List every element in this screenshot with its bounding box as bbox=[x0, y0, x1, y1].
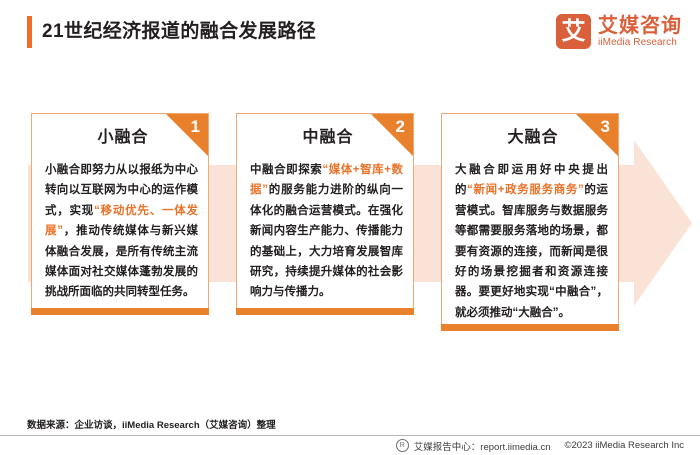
logo-name-cn: 艾媒咨询 bbox=[598, 15, 682, 37]
body-text-run: 的服务能力进阶的纵向一体化的融合运营模式。在强化新闻内容生产能力、传播能力的基础… bbox=[250, 184, 403, 298]
footer-copyright: ©2023 iiMedia Research Inc bbox=[565, 440, 684, 451]
stage-card-1: 1 小融合 小融合即努力从以报纸为中心转向以互联网为中心的运作模式，实现“移动优… bbox=[31, 113, 209, 309]
card-title: 大融合 bbox=[442, 127, 620, 149]
card-body: 大融合即运用好中央提出的“新闻+政务服务商务”的运营模式。智库服务与数据服务等都… bbox=[455, 160, 608, 323]
page-title: 21世纪经济报道的融合发展路径 bbox=[42, 17, 316, 47]
footer-report-center: 艾媒报告中心：report.iimedia.cn bbox=[414, 439, 551, 453]
progression-arrow-head-icon bbox=[634, 140, 692, 306]
card-body: 小融合即努力从以报纸为中心转向以互联网为中心的运作模式，实现“移动优先、一体发展… bbox=[45, 160, 198, 303]
body-text-run: ，推动传统媒体与新兴媒体融合发展，是所有传统主流媒体面对社交媒体蓬勃发展的挑战所… bbox=[45, 225, 198, 298]
brand-logo: 艾 艾媒咨询 iiMedia Research bbox=[556, 14, 682, 49]
footer-bar: R 艾媒报告中心：report.iimedia.cn ©2023 iiMedia… bbox=[0, 436, 700, 455]
source-note: 数据来源：企业访谈，iiMedia Research（艾媒咨询）整理 bbox=[27, 419, 276, 432]
body-text-run: 的运营模式。智库服务与数据服务等都需要服务落地的场景，都要有资源的连接，而新闻是… bbox=[455, 184, 608, 318]
logo-text: 艾媒咨询 iiMedia Research bbox=[598, 15, 682, 49]
registered-mark-icon: R bbox=[396, 439, 409, 452]
body-text-run: 中融合即探索 bbox=[250, 164, 322, 176]
card-title: 小融合 bbox=[32, 127, 210, 149]
card-footer-bar bbox=[236, 308, 414, 315]
title-accent-bar bbox=[27, 16, 32, 48]
stage-card-2: 2 中融合 中融合即探索“媒体+智库+数据”的服务能力进阶的纵向一体化的融合运营… bbox=[236, 113, 414, 309]
logo-mark-icon: 艾 bbox=[556, 14, 591, 49]
card-body: 中融合即探索“媒体+智库+数据”的服务能力进阶的纵向一体化的融合运营模式。在强化… bbox=[250, 160, 403, 303]
card-footer-bar bbox=[441, 324, 619, 331]
card-footer-bar bbox=[31, 308, 209, 315]
highlighted-phrase: “新闻+政务服务商务” bbox=[467, 184, 584, 196]
card-title: 中融合 bbox=[237, 127, 415, 149]
logo-name-en: iiMedia Research bbox=[598, 37, 682, 49]
page-header: 21世纪经济报道的融合发展路径 艾 艾媒咨询 iiMedia Research bbox=[0, 0, 700, 72]
stage-card-3: 3 大融合 大融合即运用好中央提出的“新闻+政务服务商务”的运营模式。智库服务与… bbox=[441, 113, 619, 325]
